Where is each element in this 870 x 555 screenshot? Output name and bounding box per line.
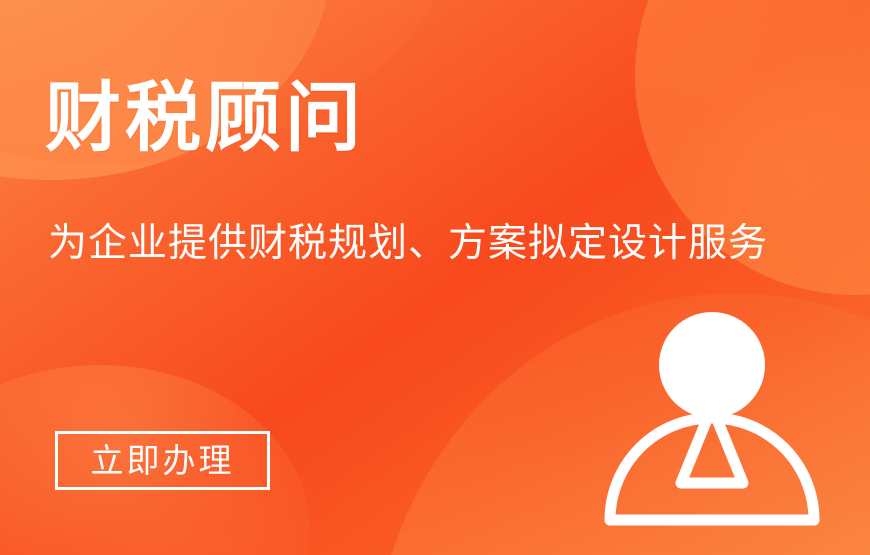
banner-title: 财税顾问 (45, 78, 365, 160)
banner-content: 财税顾问 为企业提供财税规划、方案拟定设计服务 立即办理 (0, 0, 870, 555)
banner-subtitle: 为企业提供财税规划、方案拟定设计服务 (48, 220, 768, 269)
advisor-person-icon (593, 303, 833, 535)
advisor-body-shape (610, 418, 814, 520)
promo-banner: 财税顾问 为企业提供财税规划、方案拟定设计服务 立即办理 (0, 0, 870, 555)
apply-now-button[interactable]: 立即办理 (55, 431, 270, 490)
